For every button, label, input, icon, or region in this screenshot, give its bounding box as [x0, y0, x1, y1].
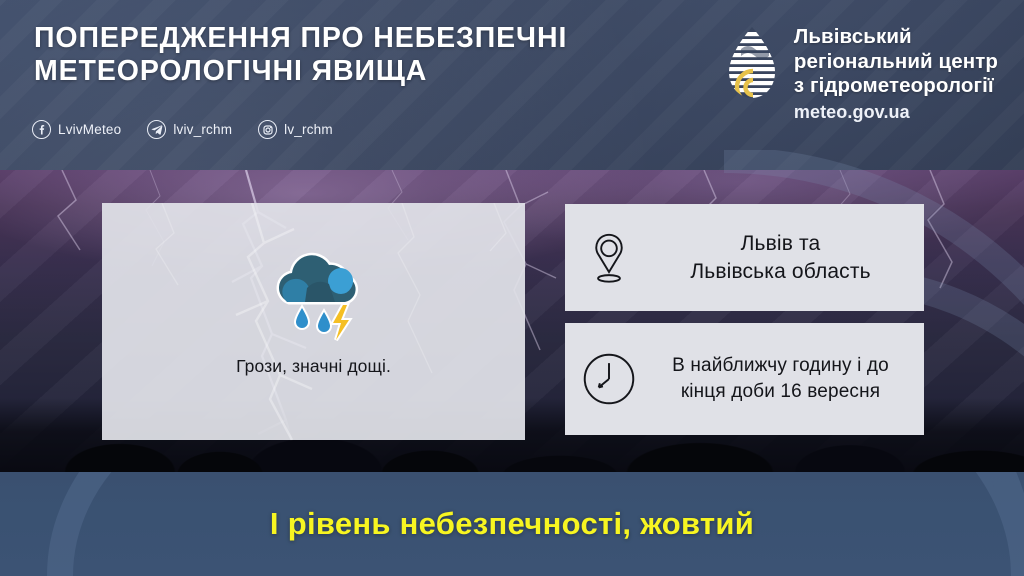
social-handle-telegram: lviv_rchm [173, 122, 232, 137]
forecast-card: Грози, значні дощі. [102, 203, 525, 440]
social-link-instagram[interactable]: lv_rchm [258, 120, 333, 139]
weather-warning-infographic: ПОПЕРЕДЖЕННЯ ПРО НЕБЕЗПЕЧНІ МЕТЕОРОЛОГІЧ… [0, 0, 1024, 576]
instagram-icon [258, 120, 277, 139]
location-line-2: Львівська область [653, 258, 908, 286]
location-text: Львів та Львівська область [653, 230, 924, 286]
social-link-telegram[interactable]: lviv_rchm [147, 120, 232, 139]
brand-website-url[interactable]: meteo.gov.ua [794, 100, 998, 124]
danger-level-banner: I рівень небезпечності, жовтий [0, 472, 1024, 576]
social-handle-instagram: lv_rchm [284, 122, 333, 137]
water-droplet-logo-icon [723, 25, 781, 109]
header-bar: ПОПЕРЕДЖЕННЯ ПРО НЕБЕЗПЕЧНІ МЕТЕОРОЛОГІЧ… [0, 0, 1024, 170]
telegram-icon [147, 120, 166, 139]
organization-branding: Львівський регіональний центр з гідромет… [723, 22, 998, 124]
forecast-caption: Грози, значні дощі. [236, 356, 391, 377]
social-links: LvivMeteo lviv_rchm [32, 120, 359, 139]
time-text: В найближчу годину і до кінця доби 16 ве… [653, 353, 924, 405]
social-link-facebook[interactable]: LvivMeteo [32, 120, 121, 139]
thunderstorm-rain-icon [255, 248, 373, 344]
title-line-2: МЕТЕОРОЛОГІЧНІ ЯВИЩА [34, 55, 654, 88]
location-line-1: Львів та [653, 230, 908, 258]
title-line-1: ПОПЕРЕДЖЕННЯ ПРО НЕБЕЗПЕЧНІ [34, 22, 654, 55]
time-panel: В найближчу годину і до кінця доби 16 ве… [565, 323, 924, 435]
brand-line-2: регіональний центр [794, 50, 998, 75]
facebook-icon [32, 120, 51, 139]
brand-line-3: з гідрометеорології [794, 74, 998, 99]
time-line-1: В найближчу годину і до [653, 353, 908, 379]
page-title: ПОПЕРЕДЖЕННЯ ПРО НЕБЕЗПЕЧНІ МЕТЕОРОЛОГІЧ… [34, 22, 654, 88]
location-panel: Львів та Львівська область [565, 204, 924, 311]
brand-line-1: Львівський [794, 25, 998, 50]
danger-level-text: I рівень небезпечності, жовтий [270, 506, 754, 542]
social-handle-facebook: LvivMeteo [58, 122, 121, 137]
time-line-2: кінця доби 16 вересня [653, 379, 908, 405]
clock-icon [565, 351, 653, 407]
map-pin-icon [565, 231, 653, 284]
